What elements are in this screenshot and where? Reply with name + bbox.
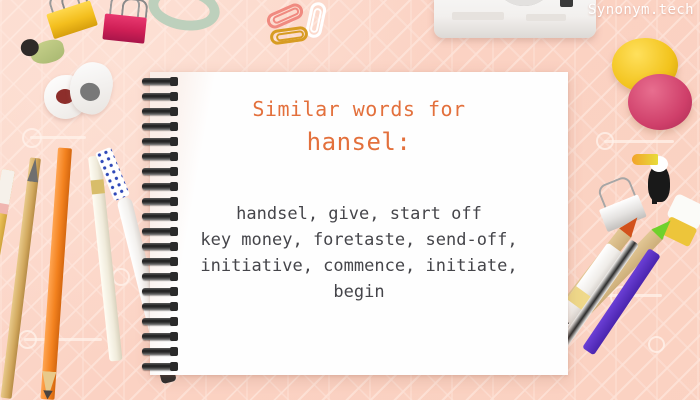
camera-white — [434, 0, 596, 38]
screenshot-stage: Similar words for hansel: handsel, give,… — [0, 0, 700, 400]
page-content: Similar words for hansel: handsel, give,… — [150, 72, 568, 375]
query-word: hansel: — [307, 129, 412, 157]
macaron-pink — [628, 74, 692, 130]
synonym-list: handsel, give, start off key money, fore… — [200, 201, 517, 305]
page-title: Similar words for — [252, 98, 465, 121]
site-watermark: Synonym.tech — [588, 2, 694, 18]
